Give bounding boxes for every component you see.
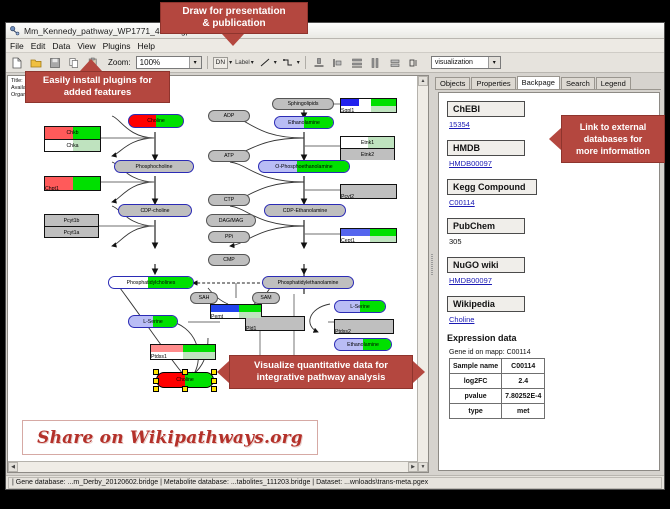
table-cell-key: log2FC: [450, 374, 502, 389]
table-cell-key: Sample name: [450, 359, 502, 374]
node-label: ATP: [224, 153, 234, 159]
tab-underline: [435, 89, 661, 90]
node-label: Etnk2: [361, 152, 374, 158]
backpage-heading-hmdb: HMDB: [447, 140, 525, 156]
distribute-vertical-icon[interactable]: [349, 55, 365, 71]
node-label: Phosphatidylcholines: [127, 280, 176, 286]
callout-plugins-line1: Easily install plugins for: [43, 75, 152, 87]
pathvisio-app-icon: [9, 25, 20, 36]
node-label: Phosphatidylethanolamine: [278, 280, 339, 286]
pathway-nodes: Sphingolipids Choline Ethanolamine ADP: [8, 76, 420, 473]
callout-visualize-line1: Visualize quantitative data for: [254, 360, 388, 372]
metabolite-node-cdp-ethanolamine[interactable]: CDP-Ethanolamine: [264, 204, 346, 217]
callout-share-text: Share on Wikipathways.org: [37, 428, 303, 448]
gene-id-line: Gene id on mapp: C00114: [449, 349, 653, 356]
panel-splitter[interactable]: [430, 75, 435, 473]
table-cell-key: pvalue: [450, 389, 502, 404]
gene-node-pcyt1a[interactable]: Pcyt1a: [45, 227, 98, 238]
node-label: Cept1: [341, 238, 355, 243]
line-dropdown[interactable]: ▾: [257, 55, 277, 71]
gene-node-pcyt1b[interactable]: Pcyt1b: [45, 215, 98, 227]
datanode-label: DN: [213, 57, 228, 69]
metabolite-node-l-serine-right[interactable]: L-Serine: [334, 300, 386, 313]
chevron-down-icon[interactable]: ▾: [274, 59, 277, 66]
gene-node-etnk1[interactable]: Etnk1: [341, 137, 394, 149]
callout-link-line2: databases for: [584, 133, 643, 145]
menu-item-data[interactable]: Data: [52, 41, 70, 51]
callout-link-line3: more information: [576, 145, 650, 157]
chevron-down-icon[interactable]: ▾: [297, 59, 300, 66]
callout-draw: Draw for presentation & publication: [160, 2, 308, 34]
table-row: log2FC 2.4: [450, 374, 545, 389]
window-titlebar: Mm_Kennedy_pathway_WP1771_45176.gpml: [6, 23, 664, 39]
metabolite-node-phosphatidylcholines[interactable]: Phosphatidylcholines: [108, 276, 194, 289]
node-label: Ethanolamine: [288, 120, 320, 126]
scroll-down-icon[interactable]: ▼: [418, 462, 428, 472]
metabolite-node-cdp-choline[interactable]: CDP-choline: [118, 204, 192, 217]
tab-backpage[interactable]: Backpage: [517, 76, 560, 90]
backpage-value-pubchem: 305: [449, 237, 653, 246]
toolbar-separator: [305, 56, 306, 69]
selection-handle[interactable]: [211, 386, 217, 392]
gene-node-cept1[interactable]: Cept1: [340, 228, 397, 243]
toolbar: Zoom: 100% ▾ DN ▾ Label ▾ ▾: [6, 53, 664, 73]
toolbar-separator: [207, 56, 208, 69]
callout-visualize-arrow-left: [217, 361, 229, 383]
node-label: Phosphocholine: [136, 164, 173, 170]
gene-node-pemt[interactable]: Pemt: [210, 304, 262, 319]
chevron-down-icon[interactable]: ▾: [189, 57, 201, 68]
statusbar: | Gene database: ...m_Derby_20120602.bri…: [6, 475, 664, 489]
scroll-right-icon[interactable]: ▶: [408, 462, 418, 472]
node-label: Sgpl1: [341, 108, 354, 113]
backpage-heading-pubchem: PubChem: [447, 218, 525, 234]
gene-box-group-etnk[interactable]: Etnk1 Etnk2: [340, 136, 395, 160]
gene-node-pld1[interactable]: Pld1: [245, 316, 305, 331]
node-label: Pcyt1a: [64, 230, 80, 236]
node-label: Choline: [176, 377, 194, 383]
callout-visualize-line2: integrative pathway analysis: [257, 372, 386, 384]
callout-share: Share on Wikipathways.org: [22, 420, 318, 455]
node-label: Ptdss2: [335, 329, 351, 335]
backpage-link-kegg[interactable]: C00114: [449, 198, 653, 207]
node-label: Pld1: [246, 326, 256, 332]
table-cell-value: 7.80252E-4: [502, 389, 545, 404]
callout-visualize: Visualize quantitative data for integrat…: [229, 355, 413, 389]
chevron-down-icon[interactable]: ▾: [251, 59, 254, 66]
node-label: O-Phosphoethanolamine: [275, 164, 332, 170]
node-label: Pcyt1b: [64, 218, 80, 224]
connector-dropdown[interactable]: ▾: [280, 55, 300, 71]
line-icon[interactable]: [257, 55, 273, 71]
menu-item-plugins[interactable]: Plugins: [103, 41, 131, 51]
metabolite-node-dag-mag[interactable]: DAG/MAG: [206, 214, 256, 227]
node-label: Pcyt2: [341, 194, 354, 200]
pathway-canvas[interactable]: Title: Availa Organi: [7, 75, 429, 473]
selection-handle[interactable]: [153, 378, 159, 384]
node-label: Chpt1: [45, 186, 59, 191]
callout-plugins-arrow: [80, 59, 102, 71]
metabolite-node[interactable]: Sphingolipids: [272, 98, 334, 110]
scroll-up-icon[interactable]: ▲: [418, 76, 428, 86]
callout-link-arrow: [549, 128, 561, 150]
datanode-dropdown[interactable]: DN ▾: [213, 57, 232, 69]
connector-icon[interactable]: [280, 55, 296, 71]
metabolite-node-o-phosphoethanolamine[interactable]: O-Phosphoethanolamine: [258, 160, 350, 173]
gene-box-group-pcyt1[interactable]: Pcyt1b Pcyt1a: [44, 214, 99, 238]
chevron-down-icon[interactable]: ▾: [229, 59, 232, 66]
metabolite-node-ctp[interactable]: CTP: [208, 194, 250, 206]
callout-link-line1: Link to external: [580, 121, 647, 133]
metabolite-node-sah[interactable]: SAH: [190, 292, 218, 304]
label-dropdown-text: Label: [235, 60, 250, 66]
save-icon[interactable]: [47, 55, 63, 71]
node-label: Ethanolamine: [347, 342, 379, 348]
backpage-heading-nugo: NuGO wiki: [447, 257, 525, 273]
gene-node-pcyt2[interactable]: Pcyt2: [340, 184, 397, 199]
chevron-down-icon[interactable]: ▾: [488, 57, 500, 68]
align-bottom-icon[interactable]: [311, 55, 327, 71]
callout-draw-line1: Draw for presentation: [182, 6, 285, 18]
metabolite-node-l-serine-left[interactable]: L-Serine: [128, 315, 178, 328]
callout-draw-line2: & publication: [202, 18, 265, 30]
metabolite-node-phosphatidylethanolamine[interactable]: Phosphatidylethanolamine: [262, 276, 354, 289]
node-label: Chkb: [66, 130, 78, 136]
node-label: L-Serine: [143, 319, 163, 325]
gene-node-chpt1[interactable]: Chpt1: [44, 176, 101, 191]
selection-handle[interactable]: [153, 386, 159, 392]
metabolite-node-ethanolamine-bottom[interactable]: Ethanolamine: [334, 338, 392, 351]
node-label: DAG/MAG: [219, 218, 244, 224]
table-row: type met: [450, 404, 545, 419]
node-label: Chka: [66, 143, 78, 149]
canvas-horizontal-scrollbar[interactable]: ◀ ▶: [8, 461, 418, 472]
node-label: CDP-choline: [140, 208, 169, 214]
metabolite-node-cmp[interactable]: CMP: [208, 254, 250, 266]
scroll-left-icon[interactable]: ◀: [8, 462, 18, 472]
node-label: Sphingolipids: [288, 101, 319, 107]
visualization-combobox[interactable]: visualization ▾: [431, 56, 501, 69]
distribute-horizontal-icon[interactable]: [368, 55, 384, 71]
node-label: L-Serine: [350, 304, 370, 310]
size-icon[interactable]: [406, 55, 422, 71]
node-label: SAM: [260, 295, 271, 301]
table-row: Sample name C00114: [450, 359, 545, 374]
node-label: ADP: [224, 113, 235, 119]
node-label: CTP: [224, 197, 234, 203]
visualization-value: visualization: [435, 59, 473, 66]
gene-node-sgpl1[interactable]: Sgpl1: [340, 98, 397, 113]
gene-node-chkb[interactable]: Chkb: [45, 127, 100, 140]
selection-handle[interactable]: [182, 386, 188, 392]
menu-item-edit[interactable]: Edit: [31, 41, 46, 51]
screenshot-root: Mm_Kennedy_pathway_WP1771_45176.gpml Fil…: [0, 0, 670, 509]
callout-plugins-line2: added features: [64, 87, 132, 99]
table-cell-value: C00114: [502, 359, 545, 374]
new-file-icon[interactable]: [9, 55, 25, 71]
backpage-link-wikipedia[interactable]: Choline: [449, 315, 653, 324]
node-label: Ptdss1: [151, 354, 167, 360]
metabolite-node-sam[interactable]: SAM: [252, 292, 280, 304]
metabolite-node-ppi[interactable]: PPi: [208, 231, 250, 243]
node-label: CDP-Ethanolamine: [283, 208, 327, 214]
callout-visualize-arrow-right: [413, 361, 425, 383]
metabolite-node-adp[interactable]: ADP: [208, 110, 250, 122]
stack-icon[interactable]: [387, 55, 403, 71]
menu-item-help[interactable]: Help: [138, 41, 155, 51]
menu-item-view[interactable]: View: [77, 41, 95, 51]
node-label: PPi: [225, 234, 233, 240]
gene-box-group-chk[interactable]: Chkb Chka: [44, 126, 101, 152]
callout-draw-arrow: [222, 34, 244, 46]
metabolite-node-ethanolamine[interactable]: Ethanolamine: [274, 116, 334, 129]
node-label: SAH: [199, 295, 210, 301]
expression-data-table: Sample name C00114 log2FC 2.4 pvalue 7.8…: [449, 358, 545, 419]
zoom-label: Zoom:: [108, 58, 131, 67]
open-folder-icon[interactable]: [28, 55, 44, 71]
gene-node-chka[interactable]: Chka: [45, 140, 100, 151]
callout-link: Link to external databases for more info…: [561, 115, 665, 163]
backpage-link-nugo[interactable]: HMDB00097: [449, 276, 653, 285]
metabolite-node-atp[interactable]: ATP: [208, 150, 250, 162]
zoom-combobox[interactable]: 100% ▾: [136, 56, 202, 69]
node-label: Pemt: [211, 314, 223, 319]
menubar: File Edit Data View Plugins Help: [6, 39, 664, 53]
backpage-heading-wikipedia: Wikipedia: [447, 296, 525, 312]
table-row: pvalue 7.80252E-4: [450, 389, 545, 404]
node-label: Etnk1: [361, 140, 374, 146]
gene-node-etnk2[interactable]: Etnk2: [341, 149, 394, 160]
menu-item-file[interactable]: File: [10, 41, 24, 51]
table-cell-value: met: [502, 404, 545, 419]
label-dropdown[interactable]: Label ▾: [235, 59, 254, 66]
metabolite-node-choline[interactable]: Choline: [128, 114, 184, 128]
selection-handle[interactable]: [182, 369, 188, 375]
gene-node-ptdss1[interactable]: Ptdss1: [150, 344, 216, 360]
backpage-heading-kegg: Kegg Compound: [447, 179, 537, 195]
node-label: Choline: [147, 118, 165, 124]
statusbar-text: | Gene database: ...m_Derby_20120602.bri…: [8, 477, 662, 489]
table-cell-value: 2.4: [502, 374, 545, 389]
callout-plugins: Easily install plugins for added feature…: [25, 71, 170, 103]
canvas-vertical-scrollbar[interactable]: ▲ ▼: [417, 76, 428, 472]
selection-handle[interactable]: [153, 369, 159, 375]
backpage-heading-chebi: ChEBI: [447, 101, 525, 117]
gene-node-ptdss2[interactable]: Ptdss2: [334, 319, 394, 334]
expression-data-title: Expression data: [447, 333, 653, 343]
zoom-value: 100%: [140, 58, 160, 67]
table-cell-key: type: [450, 404, 502, 419]
node-label: CMP: [223, 257, 235, 263]
metabolite-node-phosphocholine[interactable]: Phosphocholine: [114, 160, 194, 173]
align-left-icon[interactable]: [330, 55, 346, 71]
